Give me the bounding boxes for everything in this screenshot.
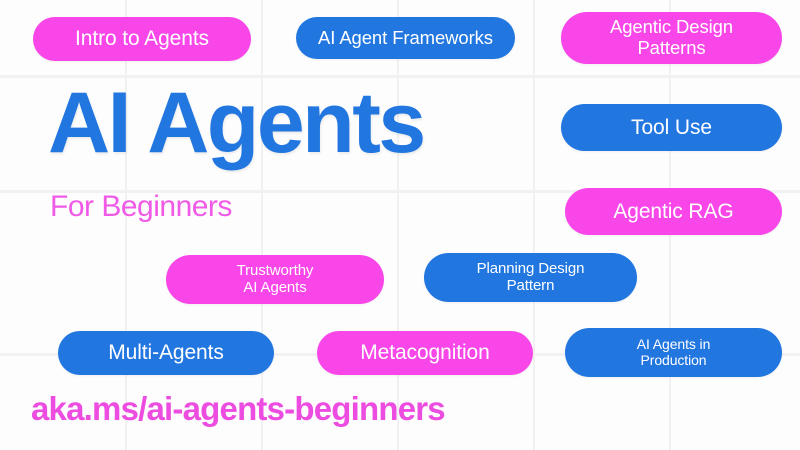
page-title: AI Agents xyxy=(48,80,424,166)
topic-pill-intro-to-agents[interactable]: Intro to Agents xyxy=(33,17,251,61)
grid-line-vertical-3 xyxy=(533,0,535,450)
grid-line-vertical-0 xyxy=(125,0,127,450)
course-url-link[interactable]: aka.ms/ai-agents-beginners xyxy=(31,392,445,425)
grid-line-vertical-1 xyxy=(261,0,263,450)
grid-line-vertical-2 xyxy=(397,0,399,450)
topic-pill-ai-agents-in-production[interactable]: AI Agents in Production xyxy=(565,328,782,377)
topic-pill-planning-design-pattern[interactable]: Planning Design Pattern xyxy=(424,253,637,302)
topic-pill-metacognition[interactable]: Metacognition xyxy=(317,331,533,375)
topic-pill-tool-use[interactable]: Tool Use xyxy=(561,104,782,151)
topic-pill-agentic-rag[interactable]: Agentic RAG xyxy=(565,188,782,235)
poster-canvas: AI Agents For Beginners Intro to AgentsA… xyxy=(0,0,800,450)
topic-pill-ai-agent-frameworks[interactable]: AI Agent Frameworks xyxy=(296,17,515,59)
topic-pill-agentic-design-patterns[interactable]: Agentic Design Patterns xyxy=(561,12,782,64)
page-subtitle: For Beginners xyxy=(50,192,232,222)
topic-pill-trustworthy-ai-agents[interactable]: Trustworthy AI Agents xyxy=(166,255,384,304)
topic-pill-multi-agents[interactable]: Multi-Agents xyxy=(58,331,274,375)
